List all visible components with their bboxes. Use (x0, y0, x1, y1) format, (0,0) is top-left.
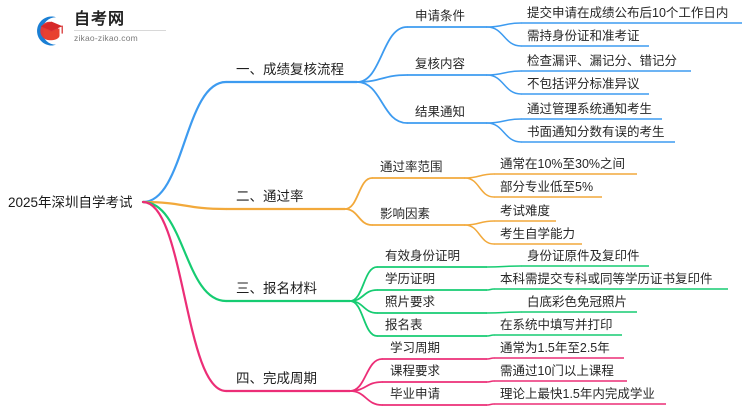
connector-branch-child (357, 82, 407, 123)
mindmap-node-child-4-3[interactable]: 毕业申请 (390, 387, 440, 401)
connector-child-leaf (487, 289, 494, 290)
connector-child-leaf (465, 225, 494, 244)
mindmap-node-leaf-3-4-1[interactable]: 在系统中填写并打印 (500, 318, 613, 332)
mindmap-node-leaf-3-3-1[interactable]: 白底彩色免冠照片 (527, 295, 627, 309)
connector-root-branch (143, 202, 226, 301)
mindmap-node-leaf-4-2-1[interactable]: 需通过10门以上课程 (500, 364, 614, 378)
logo-title: 自考网 (74, 11, 166, 31)
mindmap-node-leaf-1-1-2[interactable]: 需持身份证和准考证 (527, 29, 640, 43)
connector-child-leaf (487, 27, 521, 46)
site-logo: 自考网 zikao-zikao.com (30, 10, 165, 52)
connector-child-leaf (465, 174, 494, 178)
logo-text: 自考网 zikao-zikao.com (74, 11, 166, 44)
connector-child-leaf (487, 335, 494, 336)
connector-child-leaf (487, 404, 494, 405)
graduation-cap-logo-icon (30, 14, 68, 48)
connector-branch-child (350, 391, 382, 405)
connector-child-leaf (487, 381, 494, 382)
mindmap-node-leaf-3-1-1[interactable]: 身份证原件及复印件 (527, 249, 640, 263)
connector-child-leaf (487, 23, 521, 27)
mindmap-node-child-3-1[interactable]: 有效身份证明 (385, 249, 460, 263)
mindmap-node-leaf-1-2-1[interactable]: 检查漏评、漏记分、错记分 (527, 54, 677, 68)
connector-child-leaf (465, 221, 494, 225)
mindmap-node-child-3-2[interactable]: 学历证明 (385, 272, 435, 286)
connector-child-leaf (487, 358, 494, 359)
mindmap-node-branch-3[interactable]: 三、报名材料 (236, 282, 317, 296)
mindmap-node-child-4-2[interactable]: 课程要求 (390, 364, 440, 378)
mindmap-node-leaf-4-1-1[interactable]: 通常为1.5年至2.5年 (500, 341, 610, 355)
mindmap-node-leaf-3-2-1[interactable]: 本科需提交专科或同等学历证书复印件 (500, 272, 713, 286)
connector-child-leaf (487, 312, 521, 313)
connector-child-leaf (487, 75, 521, 94)
mindmap-node-leaf-4-3-1[interactable]: 理论上最快1.5年内完成学业 (500, 387, 655, 401)
mindmap-node-leaf-2-2-1[interactable]: 考试难度 (500, 204, 550, 218)
mindmap-node-root[interactable]: 2025年深圳自学考试 (8, 196, 133, 210)
mindmap-node-child-1-1[interactable]: 申请条件 (415, 9, 465, 23)
mindmap-canvas: 2025年深圳自学考试一、成绩复核流程申请条件提交申请在成绩公布后10个工作日内… (0, 0, 750, 410)
mindmap-node-child-1-3[interactable]: 结果通知 (415, 105, 465, 119)
mindmap-node-child-1-2[interactable]: 复核内容 (415, 57, 465, 71)
mindmap-node-child-3-3[interactable]: 照片要求 (385, 295, 435, 309)
mindmap-node-leaf-2-1-2[interactable]: 部分专业低至5% (500, 180, 593, 194)
connector-branch-child (357, 27, 407, 82)
mindmap-node-branch-2[interactable]: 二、通过率 (236, 190, 304, 204)
connector-child-leaf (487, 119, 521, 123)
connector-child-leaf (487, 71, 521, 75)
connector-branch-child (357, 75, 407, 82)
mindmap-node-leaf-1-3-2[interactable]: 书面通知分数有误的考生 (527, 125, 665, 139)
mindmap-node-leaf-1-3-1[interactable]: 通过管理系统通知考生 (527, 102, 652, 116)
mindmap-node-leaf-1-2-2[interactable]: 不包括评分标准异议 (527, 77, 640, 91)
connector-child-leaf (465, 178, 494, 197)
connector-child-leaf (487, 266, 521, 267)
mindmap-node-leaf-2-1-1[interactable]: 通常在10%至30%之间 (500, 157, 625, 171)
connector-branch-child (345, 209, 372, 225)
mindmap-node-child-3-4[interactable]: 报名表 (385, 318, 423, 332)
mindmap-node-child-2-2[interactable]: 影响因素 (380, 207, 430, 221)
connector-child-leaf (487, 123, 521, 142)
mindmap-node-branch-4[interactable]: 四、完成周期 (236, 372, 317, 386)
logo-subtitle: zikao-zikao.com (74, 31, 166, 44)
mindmap-node-branch-1[interactable]: 一、成绩复核流程 (236, 63, 344, 77)
mindmap-node-leaf-2-2-2[interactable]: 考生自学能力 (500, 227, 575, 241)
mindmap-node-child-2-1[interactable]: 通过率范围 (380, 160, 443, 174)
connector-root-branch (143, 82, 226, 202)
mindmap-node-leaf-1-1-1[interactable]: 提交申请在成绩公布后10个工作日内 (527, 6, 728, 20)
connector-branch-child (345, 178, 372, 209)
mindmap-node-child-4-1[interactable]: 学习周期 (390, 341, 440, 355)
